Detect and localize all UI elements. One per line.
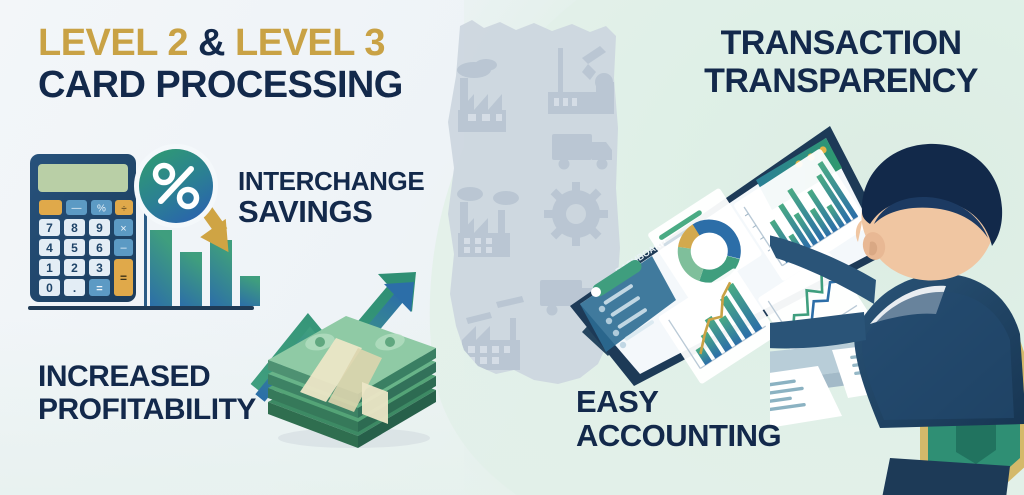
- calculator-display: [38, 164, 128, 192]
- bar-chart-bars: [150, 230, 260, 306]
- percent-badge-icon: [131, 141, 221, 231]
- businessman-at-desk: [770, 128, 1024, 495]
- svg-text:.: .: [73, 281, 76, 295]
- title-card-processing: CARD PROCESSING: [38, 66, 468, 104]
- businessman-head: [856, 144, 1002, 281]
- interchange-line1: INTERCHANGE: [238, 168, 424, 194]
- svg-text:=: =: [96, 283, 102, 295]
- infographic-canvas: LEVEL 2 & LEVEL 3 CARD PROCESSING TRANSA…: [0, 0, 1024, 495]
- easy-line2: ACCOUNTING: [576, 420, 781, 451]
- svg-text:2: 2: [71, 261, 78, 275]
- profitability-line2: PROFITABILITY: [38, 395, 256, 425]
- heading-line-transparency: TRANSPARENCY: [676, 64, 1006, 99]
- label-interchange-savings: INTERCHANGE SAVINGS: [238, 168, 424, 227]
- label-increased-profitability: INCREASED PROFITABILITY: [38, 362, 256, 425]
- svg-text:–: –: [120, 242, 127, 254]
- heading-transaction-transparency: TRANSACTION TRANSPARENCY: [676, 26, 1006, 98]
- svg-text:—: —: [72, 203, 82, 214]
- svg-text:=: =: [120, 271, 127, 285]
- svg-text:÷: ÷: [121, 204, 127, 215]
- title-level2: LEVEL 2: [38, 22, 188, 64]
- svg-text:%: %: [97, 204, 106, 215]
- svg-text:1: 1: [46, 261, 53, 275]
- money-stack-with-growth-arrow: [250, 262, 450, 452]
- svg-text:9: 9: [96, 221, 103, 235]
- page-title: LEVEL 2 & LEVEL 3 CARD PROCESSING: [38, 24, 468, 104]
- heading-line-transaction: TRANSACTION: [676, 26, 1006, 61]
- calculator-body: — % ÷ 7 8 9 × 4 5 6 –: [30, 154, 136, 302]
- svg-text:4: 4: [46, 241, 53, 255]
- svg-text:8: 8: [71, 221, 78, 235]
- easy-line1: EASY: [576, 386, 781, 417]
- svg-text:5: 5: [71, 241, 78, 255]
- svg-text:×: ×: [120, 223, 126, 235]
- interchange-line2: SAVINGS: [238, 196, 424, 227]
- businessman-torso: [854, 274, 1024, 428]
- profitability-line1: INCREASED: [38, 362, 256, 392]
- label-easy-accounting: EASY ACCOUNTING: [576, 386, 781, 451]
- svg-text:6: 6: [96, 241, 103, 255]
- svg-text:0: 0: [46, 281, 53, 295]
- svg-text:3: 3: [96, 261, 103, 275]
- title-level3: LEVEL 3: [235, 22, 385, 64]
- title-ampersand: &: [188, 22, 235, 64]
- svg-text:7: 7: [46, 221, 53, 235]
